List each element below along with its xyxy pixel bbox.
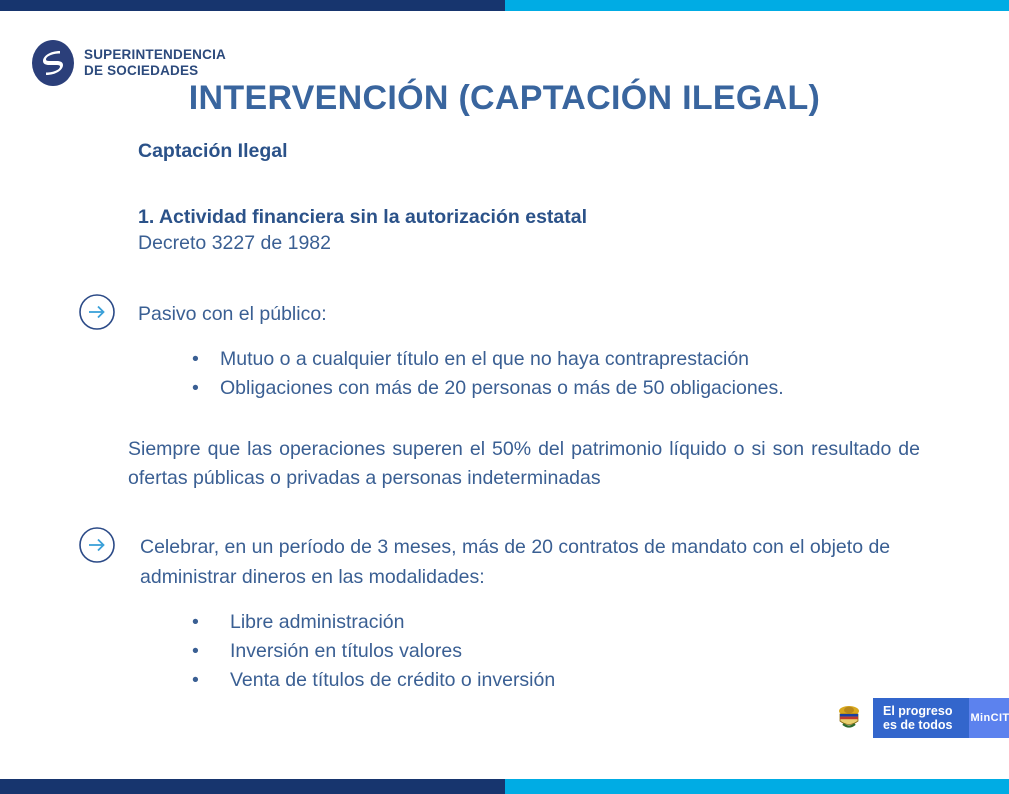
presentation-slide: SUPERINTENDENCIA DE SOCIEDADES INTERVENC… [0, 0, 1009, 794]
arrow-right-circle-icon [78, 293, 116, 331]
organization-logo-text: SUPERINTENDENCIA DE SOCIEDADES [84, 47, 226, 79]
condition-paragraph: Siempre que las operaciones superen el 5… [128, 435, 920, 494]
mincit-panel: MinCIT [969, 698, 1009, 738]
bottom-bar-cyan-segment [505, 779, 1009, 794]
bullet-list-modalidades: Libre administración Inversión en título… [230, 608, 1009, 695]
bottom-bar-navy-segment [0, 779, 505, 794]
slide-body: Captación Ilegal 1. Actividad financiera… [0, 134, 1009, 695]
body-subtitle: Captación Ilegal [138, 140, 1009, 163]
list-item: Libre administración [230, 608, 1009, 637]
progreso-line-2: es de todos [883, 718, 969, 732]
top-accent-bar [0, 0, 1009, 11]
bullet-list-pasivo: Mutuo o a cualquier título en el que no … [220, 345, 1009, 403]
section-heading: 1. Actividad financiera sin la autorizac… [138, 206, 1009, 229]
top-bar-cyan-segment [505, 0, 1009, 11]
bullet-block-celebrar: Celebrar, en un período de 3 meses, más … [78, 532, 1009, 592]
block1-text: Pasivo con el público: [138, 299, 327, 329]
block2-text: Celebrar, en un período de 3 meses, más … [140, 532, 930, 592]
progreso-panel: El progreso es de todos [873, 698, 969, 738]
government-brand-logo: El progreso es de todos MinCIT [825, 698, 1009, 738]
list-item: Obligaciones con más de 20 personas o má… [220, 374, 1009, 403]
list-item: Mutuo o a cualquier título en el que no … [220, 345, 1009, 374]
page-title: INTERVENCIÓN (CAPTACIÓN ILEGAL) [0, 79, 1009, 118]
top-bar-navy-segment [0, 0, 505, 11]
list-item: Inversión en títulos valores [230, 637, 1009, 666]
section-subheading: Decreto 3227 de 1982 [138, 232, 1009, 255]
list-item: Venta de títulos de crédito o inversión [230, 666, 1009, 695]
logo-line-1: SUPERINTENDENCIA [84, 47, 226, 63]
bottom-accent-bar [0, 779, 1009, 794]
arrow-right-circle-icon [78, 526, 116, 564]
colombia-coat-of-arms-icon [825, 698, 873, 738]
progreso-line-1: El progreso [883, 704, 969, 718]
logo-line-2: DE SOCIEDADES [84, 63, 226, 79]
bullet-block-pasivo: Pasivo con el público: [78, 299, 1009, 331]
